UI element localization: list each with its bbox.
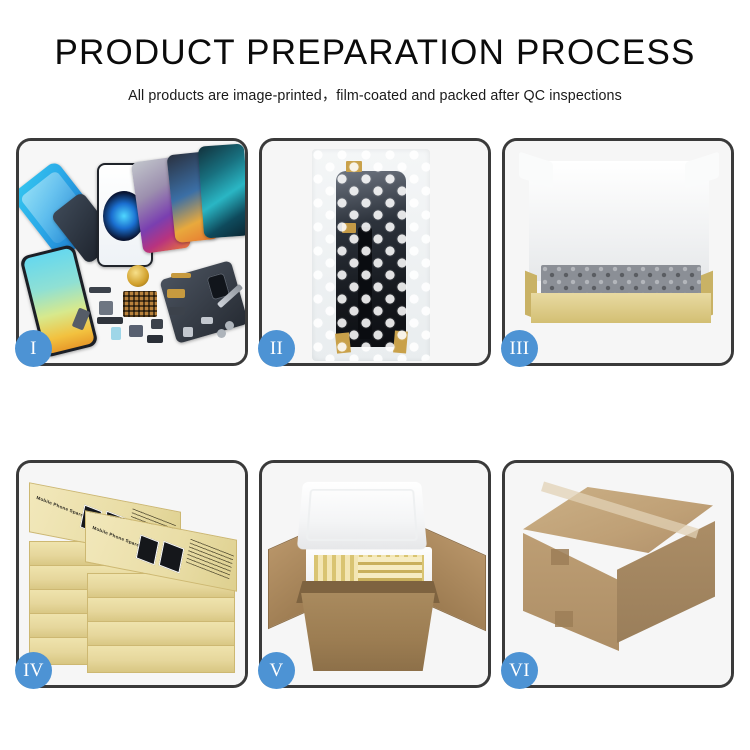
step-panel-5: V bbox=[259, 460, 491, 688]
screw-part-a bbox=[183, 327, 193, 337]
step-panel-6: VI bbox=[502, 460, 734, 688]
box-lid-front-text-lines bbox=[186, 538, 234, 579]
metal-clip-part bbox=[201, 317, 213, 324]
bubble-wrap-scene bbox=[262, 141, 488, 363]
step-badge-5: V bbox=[258, 652, 295, 689]
step-4-image: Mobile Phone Spare Parts Mobile Phone Sp… bbox=[19, 463, 245, 685]
carton-left-face bbox=[523, 533, 619, 651]
camera-lens-part bbox=[111, 327, 121, 340]
bubble-texture bbox=[312, 149, 430, 361]
screw-part-b bbox=[217, 329, 226, 338]
stacked-box-front-4 bbox=[87, 645, 235, 673]
step-badge-6: VI bbox=[501, 652, 538, 689]
page-title: PRODUCT PREPARATION PROCESS bbox=[0, 34, 750, 73]
gold-flex-strip-part bbox=[171, 273, 191, 278]
gold-contact-part bbox=[167, 289, 185, 298]
phone-parts-scene bbox=[19, 141, 245, 363]
carton-label-upper bbox=[551, 549, 569, 565]
step-6-image bbox=[505, 463, 731, 685]
product-preparation-infographic: PRODUCT PREPARATION PROCESS All products… bbox=[0, 0, 750, 750]
step-panel-1: I bbox=[16, 138, 248, 366]
shield-can-part bbox=[147, 335, 163, 343]
sealed-carton-scene bbox=[505, 463, 731, 685]
white-foam-liner bbox=[529, 161, 709, 281]
step-panel-2: II bbox=[259, 138, 491, 366]
vibration-motor-part bbox=[99, 301, 113, 315]
step-3-image bbox=[505, 141, 731, 363]
box-lid-front-window-a bbox=[136, 534, 159, 565]
page-subtitle: All products are image-printed，film-coat… bbox=[0, 84, 750, 105]
box-stack-scene: Mobile Phone Spare Parts Mobile Phone Sp… bbox=[27, 481, 241, 673]
grey-foam-padding bbox=[541, 265, 701, 295]
carton-label-lower bbox=[555, 611, 573, 627]
header: PRODUCT PREPARATION PROCESS All products… bbox=[0, 0, 750, 105]
step-panel-3: III bbox=[502, 138, 734, 366]
step-badge-2: II bbox=[258, 330, 295, 367]
battery-connector-part bbox=[97, 317, 123, 324]
foam-box-scene bbox=[505, 141, 731, 363]
chip-board-part bbox=[123, 291, 157, 317]
styrofoam-lid bbox=[297, 482, 427, 549]
step-badge-1: I bbox=[15, 330, 52, 367]
phone-teal-display bbox=[198, 144, 245, 239]
step-badge-3: III bbox=[501, 330, 538, 367]
screw-part-c bbox=[225, 321, 234, 330]
process-steps-grid: I II bbox=[16, 138, 734, 688]
step-badge-4: IV bbox=[15, 652, 52, 689]
bubble-wrap-bag bbox=[312, 149, 430, 361]
ic-chip-part bbox=[129, 325, 143, 337]
box-lid-front-window-b bbox=[159, 541, 185, 574]
step-2-image bbox=[262, 141, 488, 363]
step-5-image bbox=[262, 463, 488, 685]
stacked-box-front-2 bbox=[87, 597, 235, 623]
tray-front-panel bbox=[531, 293, 711, 323]
speaker-coil-part bbox=[127, 265, 149, 287]
bracket-part bbox=[151, 319, 163, 329]
step-panel-4: Mobile Phone Spare Parts Mobile Phone Sp… bbox=[16, 460, 248, 688]
carton-body bbox=[292, 593, 444, 671]
carton-foam-scene bbox=[262, 463, 488, 685]
stacked-box-front-3 bbox=[87, 621, 235, 647]
flex-cable-part bbox=[89, 287, 111, 293]
step-1-image bbox=[19, 141, 245, 363]
small-module-part bbox=[169, 307, 185, 315]
